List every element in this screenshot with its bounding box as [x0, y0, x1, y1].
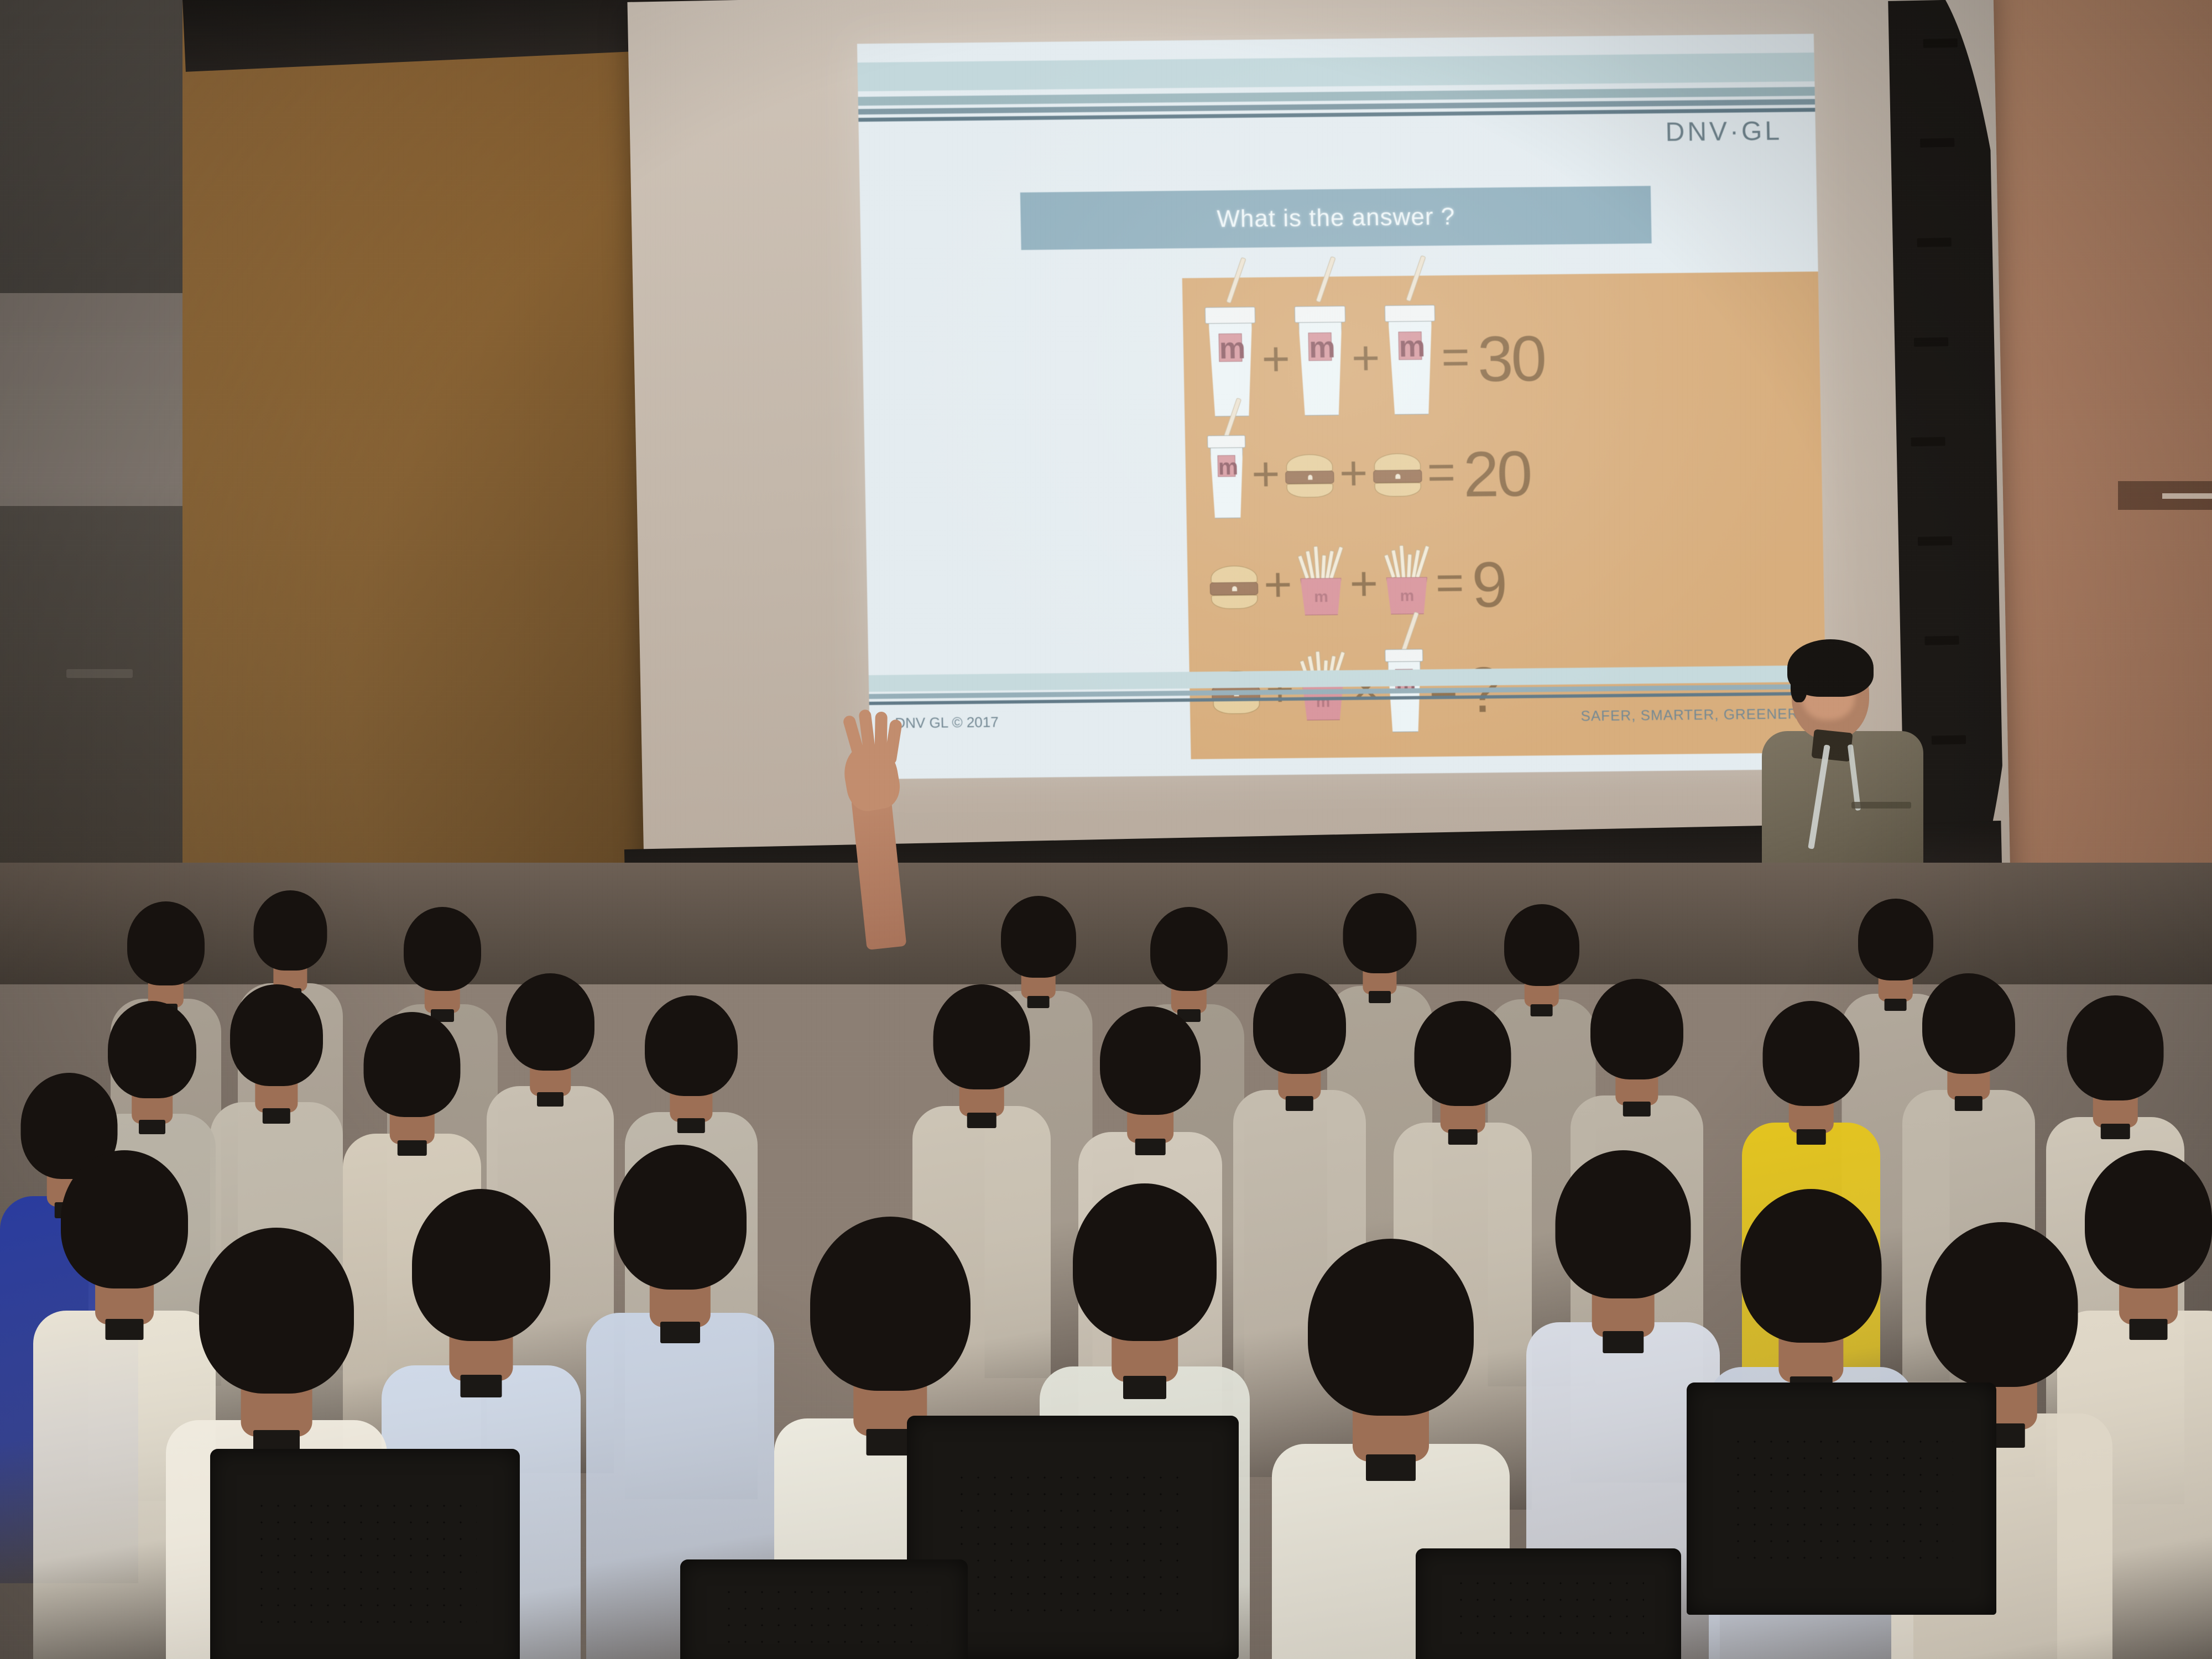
slide-title-text: What is the answer ?	[1217, 203, 1455, 233]
fries-icon	[1297, 557, 1345, 615]
audience-collar-tab	[677, 1118, 705, 1133]
audience-collar-tab	[1955, 1096, 1983, 1111]
operator-symbol: +	[1263, 560, 1292, 609]
audience-collar-tab	[1369, 991, 1391, 1003]
screen-mount-tab	[1918, 536, 1952, 546]
drink-cup-icon	[1385, 305, 1437, 415]
dnv-gl-logo: DNV·GL	[1665, 116, 1782, 148]
audience-head	[412, 1189, 550, 1341]
audience-head	[614, 1145, 747, 1290]
screen-mount-tab	[1920, 138, 1954, 148]
audience-head	[1556, 1150, 1691, 1298]
auditorium-seat	[1687, 1383, 1996, 1615]
slide-header-stripe-1	[857, 53, 1814, 91]
screen-mount-tab	[1914, 337, 1948, 347]
equals-symbol: =	[1441, 333, 1470, 382]
audience-head	[506, 973, 594, 1071]
equation-row: ++=20	[1207, 410, 1806, 538]
audience-head	[1343, 893, 1417, 973]
audience-collar-tab	[263, 1108, 290, 1124]
screen-mount-tab	[1923, 38, 1958, 48]
presenter-collar	[1811, 729, 1853, 761]
equation-result: 20	[1463, 441, 1531, 506]
operator-symbol: +	[1349, 559, 1379, 608]
wall-trim-fixture	[2118, 481, 2212, 510]
audience-head	[1922, 973, 2015, 1074]
audience-collar-tab	[537, 1092, 564, 1107]
equation-result: 9	[1471, 552, 1506, 617]
left-wall-light-band	[0, 293, 188, 506]
operator-symbol: +	[1339, 449, 1368, 498]
audience-head	[1741, 1189, 1882, 1343]
burger-icon	[1209, 566, 1259, 609]
auditorium-seat	[210, 1449, 520, 1659]
auditorium-seat	[1416, 1548, 1681, 1659]
raised-hand	[830, 711, 912, 943]
audience-collar-tab	[1286, 1096, 1313, 1111]
slide-title-bar: What is the answer ?	[1020, 186, 1652, 250]
audience-head	[810, 1217, 971, 1391]
audience-head	[127, 901, 205, 985]
operator-symbol: +	[1251, 450, 1280, 499]
audience-head	[230, 984, 323, 1086]
audience-collar-tab	[2130, 1319, 2168, 1340]
audience-collar-tab	[461, 1375, 502, 1397]
wall-vent	[66, 669, 133, 678]
audience-group	[0, 763, 2212, 1659]
screen-mount-tab	[1911, 437, 1945, 446]
audience-collar-tab	[106, 1319, 144, 1340]
audience-head	[1308, 1239, 1474, 1416]
audience-head	[1073, 1183, 1217, 1341]
audience-head	[199, 1228, 354, 1394]
drink-cup-icon	[1295, 306, 1347, 416]
audience-collar-tab	[1623, 1102, 1651, 1117]
audience-head	[1100, 1006, 1201, 1115]
operator-symbol: +	[1261, 335, 1291, 384]
audience-head	[1763, 1001, 1860, 1106]
audience-collar-tab	[1530, 1004, 1553, 1016]
burger-icon	[1285, 454, 1334, 498]
audience-collar-tab	[1797, 1129, 1826, 1145]
audience-head	[404, 907, 481, 991]
audience-head	[1253, 973, 1346, 1074]
audience-collar-tab	[2101, 1124, 2130, 1140]
audience-head	[1858, 899, 1933, 980]
audience-head	[1001, 896, 1076, 978]
audience-head	[1415, 1001, 1511, 1106]
screen-mount-tab	[1917, 238, 1952, 247]
equals-symbol: =	[1435, 559, 1464, 608]
projected-slide: DNV·GL What is the answer ? ++=30++=20++…	[857, 34, 1827, 779]
audience-head	[1926, 1222, 2078, 1387]
audience-head	[645, 995, 738, 1096]
audience-head	[1504, 904, 1579, 986]
presenter-hair	[1787, 639, 1874, 697]
audience-head	[364, 1012, 461, 1117]
audience-head	[1150, 907, 1228, 991]
drink-cup-icon	[1207, 435, 1247, 519]
photo-scene: DNV·GL What is the answer ? ++=30++=20++…	[0, 0, 2212, 1659]
operator-symbol: +	[1351, 333, 1380, 383]
drink-cup-icon	[1205, 307, 1258, 417]
audience-head	[933, 984, 1030, 1089]
fries-icon	[1383, 556, 1431, 615]
audience-collar-tab	[967, 1113, 997, 1129]
equals-symbol: =	[1427, 448, 1456, 497]
audience-collar-tab	[398, 1140, 427, 1156]
audience-collar-tab	[1366, 1454, 1416, 1481]
audience-head	[254, 890, 327, 971]
burger-icon	[1373, 453, 1422, 497]
audience-head	[1590, 979, 1683, 1079]
audience-head	[2067, 995, 2164, 1100]
equation-result: 30	[1477, 326, 1545, 391]
screen-mount-tab	[1924, 636, 1959, 645]
audience-collar-tab	[1123, 1376, 1166, 1400]
audience-collar-tab	[1448, 1129, 1478, 1145]
audience-collar-tab	[660, 1322, 700, 1343]
audience-collar-tab	[139, 1120, 165, 1134]
screen-mount-tab	[1932, 735, 1966, 744]
audience-collar-tab	[1135, 1139, 1166, 1155]
auditorium-seat	[680, 1559, 968, 1659]
audience-collar-tab	[1603, 1331, 1644, 1353]
